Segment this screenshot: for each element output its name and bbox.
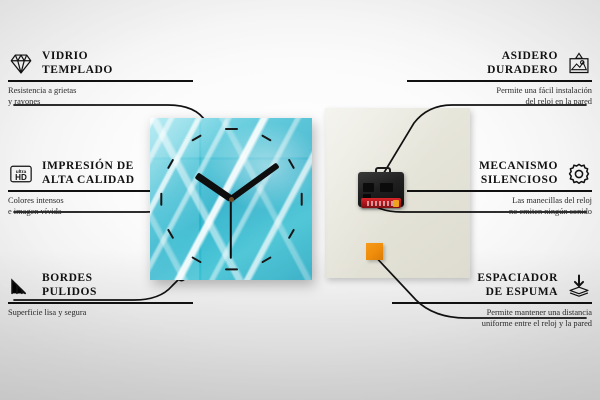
- clock-center-cap: [229, 197, 234, 202]
- battery-label: [367, 201, 393, 206]
- clock-tick: [225, 268, 238, 270]
- battery: [361, 198, 401, 208]
- clock-tick: [300, 192, 302, 205]
- second-hand: [230, 199, 232, 259]
- clock-tick: [160, 192, 162, 205]
- movement-detail: [363, 183, 374, 192]
- movement-body: [358, 172, 404, 207]
- foam-spacer-pad: [366, 243, 383, 260]
- clock-movement: [358, 167, 404, 207]
- movement-detail: [380, 183, 393, 192]
- clock-face: [150, 118, 312, 280]
- battery-terminal: [393, 200, 399, 207]
